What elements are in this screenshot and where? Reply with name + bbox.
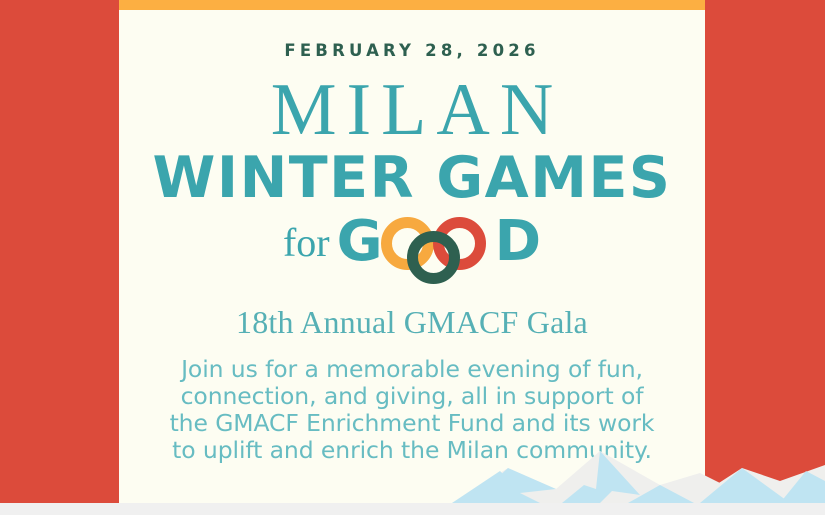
invitation-card: FEBRUARY 28, 2026 MILAN WINTER GAMES for… [119,0,705,503]
ring-green-icon [407,231,460,284]
lockup-for-text: for [283,220,337,266]
event-date: FEBRUARY 28, 2026 [119,43,705,60]
title-milan: MILAN [119,78,705,143]
card-content: FEBRUARY 28, 2026 MILAN WINTER GAMES for… [119,10,705,464]
for-good-lockup: for G D [119,217,705,279]
lockup-letter-g: G [337,217,383,267]
poster-canvas: FEBRUARY 28, 2026 MILAN WINTER GAMES for… [0,0,825,515]
event-description: Join us for a memorable evening of fun, … [162,356,662,464]
olympic-rings-icon [381,217,497,279]
title-winter-games: WINTER GAMES [119,150,705,207]
lockup-letter-d: D [495,217,541,267]
orange-accent-bar [119,0,705,10]
bottom-strip [0,503,825,515]
event-subtitle: 18th Annual GMACF Gala [119,305,705,340]
